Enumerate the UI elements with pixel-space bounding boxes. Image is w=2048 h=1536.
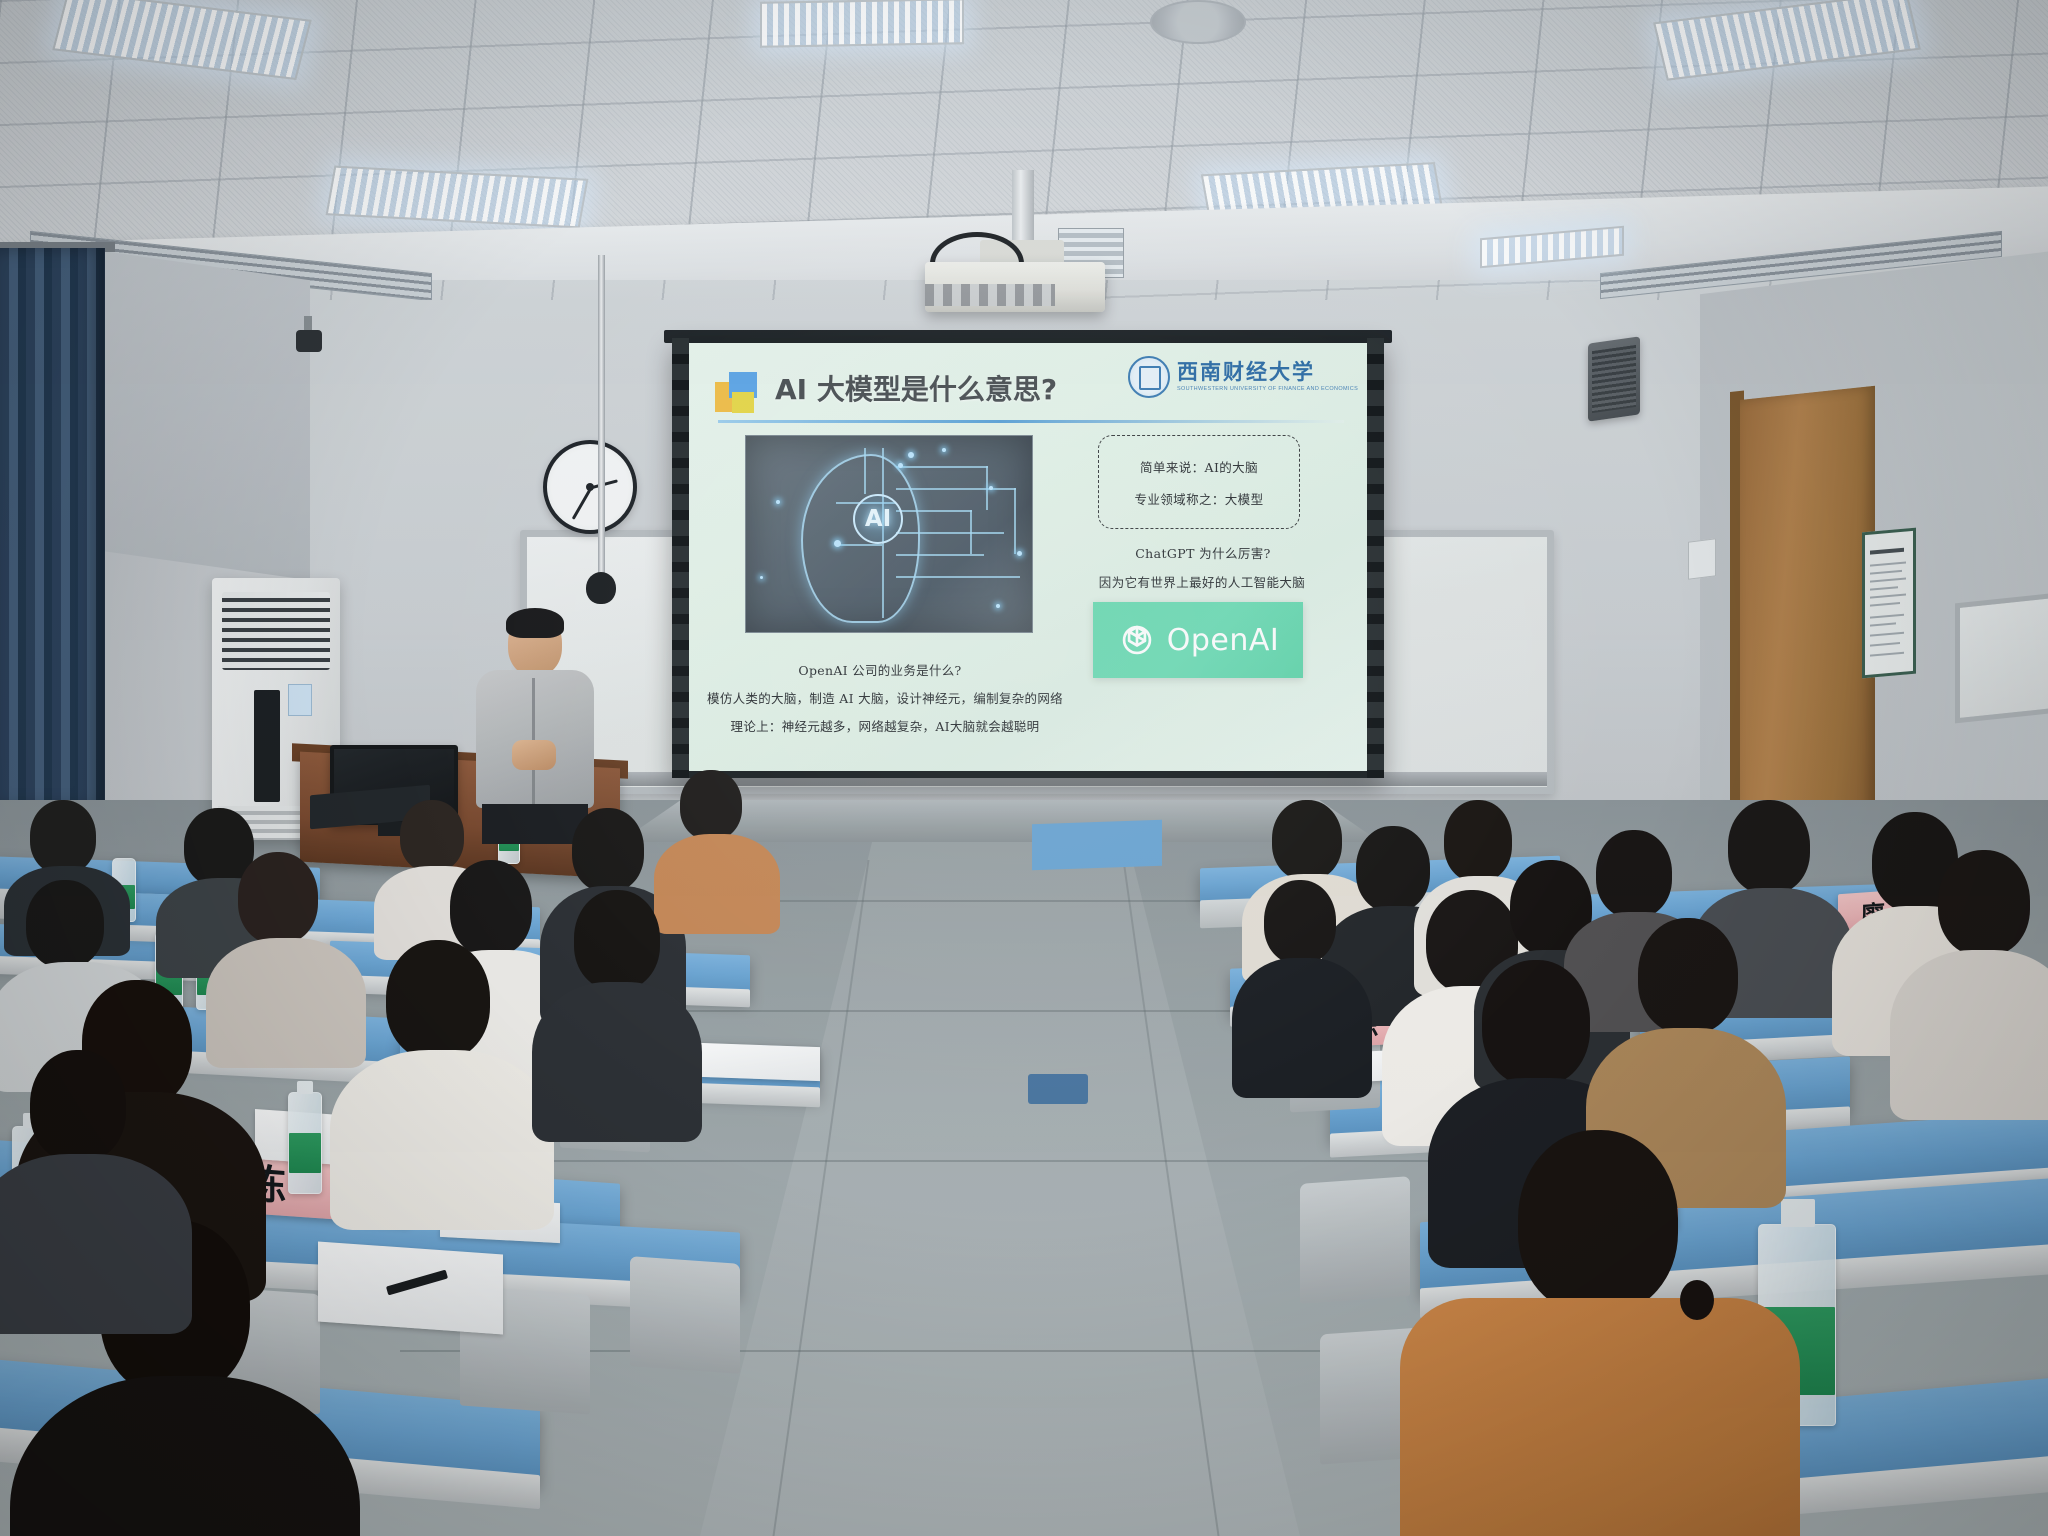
ai-head-outline <box>801 454 920 623</box>
ai-label: AI <box>853 494 903 544</box>
university-name-cn: 西南财经大学 <box>1177 362 1358 383</box>
screen-right-edge <box>1367 338 1384 778</box>
openai-card: OpenAI <box>1093 602 1303 678</box>
university-seal-icon <box>1128 356 1170 398</box>
wall-board <box>1955 593 2048 724</box>
dashed-line-2: 专业领域称之：大模型 <box>1099 489 1299 508</box>
window-area <box>95 250 310 580</box>
ac-energy-label <box>288 684 312 716</box>
tablet-device <box>1028 1074 1088 1104</box>
slide-dashed-box: 简单来说：AI的大脑 专业领域称之：大模型 <box>1098 435 1300 529</box>
wall-notice-frame <box>1862 528 1916 679</box>
ac-control-panel[interactable] <box>254 690 280 802</box>
water-bottle <box>288 1092 322 1194</box>
slide-title-rule <box>718 420 1344 423</box>
audience-member <box>1900 850 2048 1070</box>
openai-logo-icon <box>1117 620 1157 660</box>
screen-left-edge <box>672 338 689 778</box>
audience-member <box>340 940 540 1180</box>
slide-bottom-line-2: 模仿人类的大脑，制造 AI 大脑，设计神经元，编制复杂的网络 <box>690 688 1080 707</box>
slide-bottom-line-1: OpenAI 公司的业务是什么? <box>700 660 1060 679</box>
classroom-photo: AI 大模型是什么意思? 西南财经大学 SOUTHWESTERN UNIVERS… <box>0 0 2048 1536</box>
audience-member <box>540 890 690 1090</box>
chair-back <box>630 1256 740 1374</box>
university-name-en: SOUTHWESTERN UNIVERSITY OF FINANCE AND E… <box>1177 386 1358 392</box>
slide-title: AI 大模型是什么意思? <box>775 368 1057 408</box>
slide-question-1: ChatGPT 为什么厉害? <box>1098 543 1308 562</box>
classroom-door[interactable] <box>1740 386 1875 840</box>
audience-member <box>1430 1130 1760 1536</box>
audience-member <box>1598 918 1768 1158</box>
presentation-slide: AI 大模型是什么意思? 西南财经大学 SOUTHWESTERN UNIVERS… <box>689 343 1367 771</box>
audience-member <box>660 770 770 900</box>
earbud <box>1680 1280 1714 1320</box>
audience-member <box>0 1050 170 1250</box>
projector-ports <box>925 284 1055 306</box>
slide-question-2: 因为它有世界上最好的人工智能大脑 <box>1083 572 1321 591</box>
ac-vent <box>222 592 330 670</box>
wall-clock <box>543 440 637 534</box>
clock-minute-hand <box>572 487 592 519</box>
hanging-mic-pole <box>598 255 605 580</box>
dashed-line-1: 简单来说：AI的大脑 <box>1099 457 1299 476</box>
paper-sheet <box>700 1043 820 1081</box>
ai-brain-image: AI <box>745 435 1033 633</box>
openai-wordmark: OpenAI <box>1167 623 1280 658</box>
window-curtain <box>0 248 105 808</box>
projection-screen: AI 大模型是什么意思? 西南财经大学 SOUTHWESTERN UNIVERS… <box>672 338 1384 778</box>
clock-center <box>586 483 594 491</box>
university-logo: 西南财经大学 SOUTHWESTERN UNIVERSITY OF FINANC… <box>1128 356 1358 398</box>
audience-member <box>1240 880 1360 1050</box>
slide-logo-icon <box>715 372 761 414</box>
ceiling-camera <box>296 330 322 352</box>
ceiling-vent <box>1150 0 1246 44</box>
projector-pole <box>1012 170 1034 242</box>
desk-sliver <box>1032 820 1162 871</box>
chair-back <box>1300 1176 1410 1304</box>
light-switch[interactable] <box>1688 538 1716 579</box>
ceiling-light <box>760 0 964 48</box>
slide-bottom-line-3: 理论上：神经元越多，网络越复杂，AI大脑就会越聪明 <box>696 716 1074 735</box>
hanging-microphone <box>586 572 616 604</box>
speaker-grill <box>1592 345 1636 413</box>
